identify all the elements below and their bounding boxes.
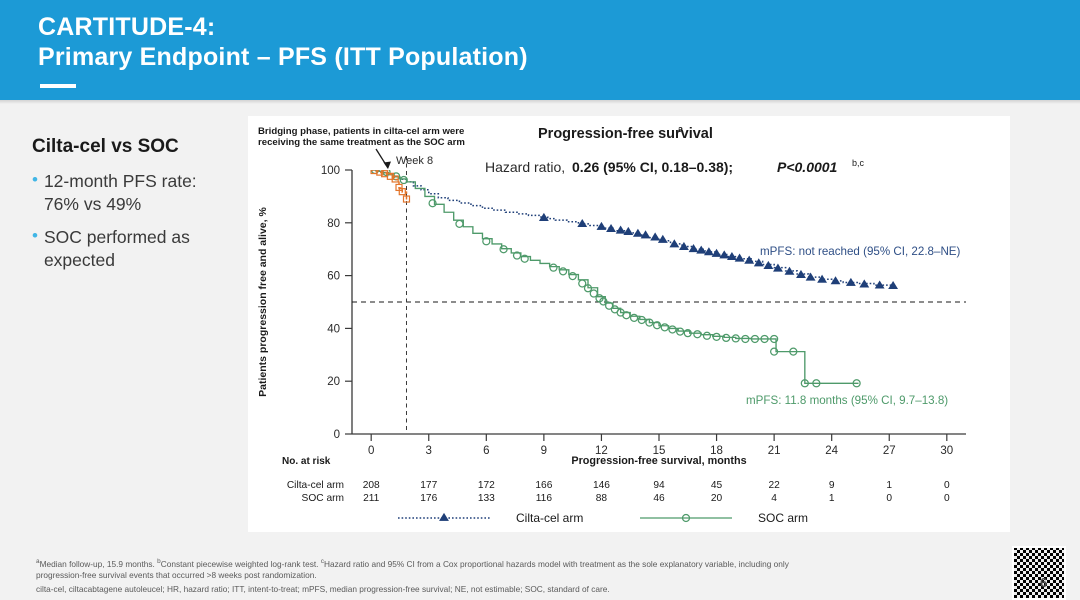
kaplan-meier-chart: Bridging phase, patients in cilta-cel ar…	[248, 116, 1010, 532]
hazard-ratio-prefix: Hazard ratio,	[485, 159, 565, 175]
risk-cell: 133	[478, 493, 495, 504]
mpfs-cilta-cel-annotation: mPFS: not reached (95% CI, 22.8–NE)	[760, 245, 961, 258]
censor-marker	[633, 229, 642, 236]
risk-table: Cilta-cel arm208177172166146944522910SOC…	[287, 480, 950, 504]
chart-card: Bridging phase, patients in cilta-cel ar…	[248, 116, 1010, 532]
qr-code-icon[interactable]	[1012, 546, 1066, 600]
page-title: CARTITUDE-4: Primary Endpoint – PFS (ITT…	[38, 12, 528, 72]
footnote-text-b: Constant piecewise weighted log-rank tes…	[161, 559, 321, 569]
risk-cell: 146	[593, 480, 610, 491]
hazard-ratio-value: 0.26 (95% CI, 0.18–0.38);	[572, 159, 733, 175]
bridging-note-arrowhead-icon	[384, 162, 392, 170]
risk-cell: 45	[711, 480, 723, 491]
footnote-line-1: aMedian follow-up, 15.9 months. bConstan…	[36, 556, 936, 570]
hazard-ratio-pvalue: P<0.0001	[777, 159, 838, 175]
footnotes: aMedian follow-up, 15.9 months. bConstan…	[36, 556, 936, 595]
censor-marker	[745, 256, 754, 263]
bullet-dot-icon: •	[32, 170, 38, 216]
risk-cell: 0	[944, 493, 950, 504]
y-axis-ticks: 020406080100	[321, 165, 352, 441]
x-tick-label: 24	[825, 445, 838, 457]
page-number: 6	[1040, 575, 1047, 590]
legend-label: SOC arm	[758, 511, 808, 525]
censor-marker	[616, 226, 625, 233]
bridging-note-line-1: Bridging phase, patients in cilta-cel ar…	[258, 126, 464, 137]
censor-marker	[689, 245, 698, 252]
risk-cell: 46	[653, 493, 665, 504]
y-tick-label: 0	[334, 429, 340, 441]
risk-cell: 1	[829, 493, 835, 504]
hazard-ratio-superscript: b,c	[852, 158, 865, 168]
x-tick-label: 3	[426, 445, 432, 457]
risk-cell: 20	[711, 493, 723, 504]
risk-table-title: No. at risk	[282, 456, 331, 467]
footnote-abbreviations: cilta-cel, ciltacabtagene autoleucel; HR…	[36, 584, 936, 595]
censor-marker	[670, 240, 679, 247]
censor-marker	[703, 332, 710, 339]
censor-marker	[651, 233, 660, 240]
censor-marker	[818, 275, 827, 282]
censor-marker	[456, 220, 463, 227]
bullet-text: SOC performed as expected	[44, 226, 232, 272]
left-summary-panel: Cilta-cel vs SOC • 12-month PFS rate: 76…	[32, 136, 232, 282]
risk-row-label: Cilta-cel arm	[287, 480, 344, 491]
chart-title: Progression-free survival	[538, 126, 713, 142]
censor-marker	[754, 259, 763, 266]
censor-marker	[697, 246, 706, 253]
title-underline	[40, 84, 76, 88]
censor-marker	[658, 235, 667, 242]
risk-cell: 88	[596, 493, 608, 504]
censor-marker	[607, 225, 616, 232]
censor-marker	[550, 264, 557, 271]
x-tick-label: 6	[483, 445, 489, 457]
censor-marker	[624, 227, 633, 234]
censor-marker	[661, 324, 668, 331]
legend-label: Cilta-cel arm	[516, 511, 583, 525]
title-line-1: CARTITUDE-4:	[38, 13, 215, 41]
y-tick-label: 20	[327, 376, 340, 388]
risk-cell: 177	[420, 480, 437, 491]
footnote-text-c: Hazard ratio and 95% CI from a Cox propo…	[324, 559, 789, 569]
censor-marker	[560, 268, 567, 275]
y-tick-label: 100	[321, 165, 340, 177]
footnote-text-a: Median follow-up, 15.9 months.	[40, 559, 158, 569]
bridging-note-line-2: receiving the same treatment as the SOC …	[258, 137, 465, 148]
chart-legend: Cilta-cel armSOC arm	[398, 511, 808, 525]
risk-row-label: SOC arm	[302, 493, 344, 504]
curve-cilta-cel-arm	[371, 170, 897, 289]
censor-marker	[712, 249, 721, 256]
left-panel-heading: Cilta-cel vs SOC	[32, 136, 232, 158]
risk-cell: 172	[478, 480, 495, 491]
censor-marker	[669, 326, 676, 333]
triangle-up-icon	[440, 513, 449, 520]
risk-cell: 0	[886, 493, 892, 504]
x-tick-label: 9	[541, 445, 547, 457]
bullet-text: 12-month PFS rate: 76% vs 49%	[44, 170, 232, 216]
curve-soc-arm	[371, 167, 860, 387]
y-tick-label: 40	[327, 323, 340, 335]
x-tick-label: 0	[368, 445, 374, 457]
censor-marker	[694, 331, 701, 338]
header-shadow	[0, 100, 1080, 104]
censor-marker	[831, 277, 840, 284]
risk-cell: 211	[363, 493, 380, 504]
y-tick-label: 60	[327, 271, 340, 283]
x-axis-title: Progression-free survival, months	[571, 455, 746, 467]
risk-cell: 94	[653, 480, 665, 491]
risk-cell: 4	[771, 493, 777, 504]
x-tick-label: 27	[883, 445, 896, 457]
x-tick-label: 30	[940, 445, 953, 457]
title-line-2: Primary Endpoint – PFS (ITT Population)	[38, 42, 528, 72]
censor-marker	[631, 314, 638, 321]
risk-cell: 0	[944, 480, 950, 491]
risk-cell: 9	[829, 480, 835, 491]
mpfs-soc-annotation: mPFS: 11.8 months (95% CI, 9.7–13.8)	[746, 394, 948, 407]
risk-cell: 1	[886, 480, 892, 491]
y-axis-title: Patients progression free and alive, %	[257, 207, 269, 397]
survival-curves	[371, 167, 897, 387]
censor-marker	[597, 222, 606, 229]
x-axis-ticks: 036912151821242730	[368, 434, 953, 457]
censor-marker	[680, 242, 689, 249]
risk-cell: 116	[536, 493, 553, 504]
risk-cell: 166	[535, 480, 552, 491]
week8-label: Week 8	[396, 155, 433, 167]
footnote-line-2: progression-free survival events that oc…	[36, 570, 936, 581]
list-item: • 12-month PFS rate: 76% vs 49%	[32, 170, 232, 216]
bullet-dot-icon: •	[32, 226, 38, 272]
risk-cell: 208	[363, 480, 380, 491]
risk-cell: 22	[768, 480, 780, 491]
x-tick-label: 21	[768, 445, 781, 457]
risk-cell: 176	[420, 493, 437, 504]
y-tick-label: 80	[327, 218, 340, 230]
slide-header: CARTITUDE-4: Primary Endpoint – PFS (ITT…	[0, 0, 1080, 100]
censor-marker	[735, 254, 744, 261]
list-item: • SOC performed as expected	[32, 226, 232, 272]
censor-marker	[569, 273, 576, 280]
